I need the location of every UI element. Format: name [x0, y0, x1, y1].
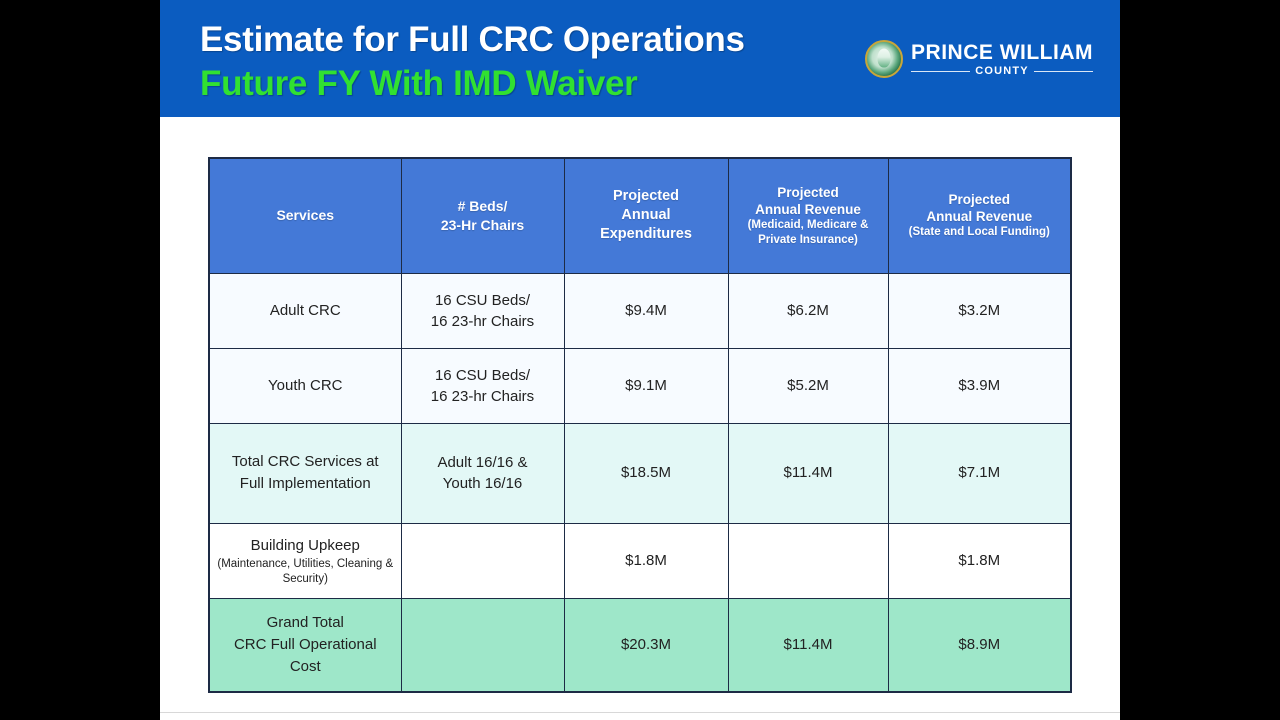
cell-service: Grand Total CRC Full Operational Cost	[209, 598, 401, 692]
table-row: Youth CRC 16 CSU Beds/ 16 23-hr Chairs $…	[209, 348, 1071, 423]
cell-service-line3: Cost	[290, 658, 321, 675]
logo-name: PRINCE WILLIAM	[911, 41, 1093, 64]
table-row: Building Upkeep (Maintenance, Utilities,…	[209, 523, 1071, 598]
column-header-rev-sl-line2: Annual Revenue	[926, 209, 1032, 224]
cell-expenditures: $9.4M	[564, 273, 728, 348]
column-header-beds-line2: 23-Hr Chairs	[441, 217, 524, 233]
cell-revenue-insurance: $5.2M	[728, 348, 888, 423]
cell-service: Building Upkeep (Maintenance, Utilities,…	[209, 523, 401, 598]
cell-service-line1: Grand Total	[267, 614, 344, 631]
cell-service-note: (Maintenance, Utilities, Cleaning & Secu…	[216, 557, 395, 587]
cell-beds-chairs	[401, 523, 564, 598]
slide-bottom-divider	[160, 712, 1120, 713]
cell-service-line2: Full Implementation	[240, 475, 371, 492]
logo-county-label: COUNTY	[975, 65, 1029, 77]
slide-title-secondary: Future FY With IMD Waiver	[200, 62, 880, 106]
cell-beds-chairs: 16 CSU Beds/ 16 23-hr Chairs	[401, 348, 564, 423]
cell-revenue-state-local: $7.1M	[888, 423, 1071, 523]
column-header-services: Services	[209, 158, 401, 273]
prince-william-county-logo: PRINCE WILLIAM COUNTY	[865, 40, 1093, 78]
column-header-revenue-state-local: Projected Annual Revenue (State and Loca…	[888, 158, 1071, 273]
table-row: Adult CRC 16 CSU Beds/ 16 23-hr Chairs $…	[209, 273, 1071, 348]
cell-revenue-insurance	[728, 523, 888, 598]
cell-beds-chairs: 16 CSU Beds/ 16 23-hr Chairs	[401, 273, 564, 348]
cell-service: Total CRC Services at Full Implementatio…	[209, 423, 401, 523]
cell-revenue-state-local: $1.8M	[888, 523, 1071, 598]
cell-beds-line1: 16 CSU Beds/	[435, 292, 530, 309]
cell-service-line1: Total CRC Services at	[232, 453, 379, 470]
slide-title-primary: Estimate for Full CRC Operations	[200, 18, 880, 62]
column-header-exp-line2: Annual	[621, 207, 670, 223]
cell-expenditures: $18.5M	[564, 423, 728, 523]
cell-revenue-insurance: $11.4M	[728, 423, 888, 523]
column-header-rev-ins-line1: Projected	[777, 185, 839, 200]
cell-beds-line2: 16 23-hr Chairs	[431, 313, 534, 330]
cell-beds-line2: 16 23-hr Chairs	[431, 388, 534, 405]
crc-cost-table-container: Services # Beds/ 23-Hr Chairs Projected …	[208, 157, 1070, 693]
cell-beds-line1: Adult 16/16 &	[437, 454, 527, 471]
screen: Estimate for Full CRC Operations Future …	[0, 0, 1280, 720]
cell-beds-line2: Youth 16/16	[443, 475, 523, 492]
cell-service: Adult CRC	[209, 273, 401, 348]
column-header-beds-line1: # Beds/	[458, 198, 508, 214]
column-header-rev-sl-line1: Projected	[948, 192, 1010, 207]
cell-revenue-insurance: $11.4M	[728, 598, 888, 692]
cell-revenue-state-local: $3.2M	[888, 273, 1071, 348]
cell-beds-line1: 16 CSU Beds/	[435, 367, 530, 384]
table-body: Adult CRC 16 CSU Beds/ 16 23-hr Chairs $…	[209, 273, 1071, 692]
column-header-rev-sl-sub: (State and Local Funding)	[895, 225, 1065, 240]
logo-county-row: COUNTY	[911, 65, 1093, 77]
column-header-revenue-insurance: Projected Annual Revenue (Medicaid, Medi…	[728, 158, 888, 273]
table-row: Grand Total CRC Full Operational Cost $2…	[209, 598, 1071, 692]
cell-service-line1: Building Upkeep	[251, 537, 360, 554]
column-header-rev-ins-sub: (Medicaid, Medicare & Private Insurance)	[735, 218, 882, 248]
column-header-exp-line1: Projected	[613, 188, 679, 204]
slide-canvas: Estimate for Full CRC Operations Future …	[160, 0, 1120, 720]
cell-expenditures: $1.8M	[564, 523, 728, 598]
logo-rule-left	[911, 71, 970, 72]
cell-expenditures: $9.1M	[564, 348, 728, 423]
cell-beds-chairs: Adult 16/16 & Youth 16/16	[401, 423, 564, 523]
column-header-beds-chairs: # Beds/ 23-Hr Chairs	[401, 158, 564, 273]
cell-service-line2: CRC Full Operational	[234, 636, 377, 653]
column-header-exp-line3: Expenditures	[600, 226, 692, 242]
cell-beds-chairs	[401, 598, 564, 692]
logo-rule-right	[1034, 71, 1093, 72]
cell-revenue-state-local: $3.9M	[888, 348, 1071, 423]
cell-revenue-insurance: $6.2M	[728, 273, 888, 348]
slide-header-banner: Estimate for Full CRC Operations Future …	[160, 0, 1120, 117]
table-head: Services # Beds/ 23-Hr Chairs Projected …	[209, 158, 1071, 273]
cell-expenditures: $20.3M	[564, 598, 728, 692]
logo-text-group: PRINCE WILLIAM COUNTY	[911, 41, 1093, 77]
crc-cost-table: Services # Beds/ 23-Hr Chairs Projected …	[208, 157, 1072, 693]
banner-title-group: Estimate for Full CRC Operations Future …	[200, 18, 880, 106]
county-seal-icon	[865, 40, 903, 78]
cell-revenue-state-local: $8.9M	[888, 598, 1071, 692]
table-header-row: Services # Beds/ 23-Hr Chairs Projected …	[209, 158, 1071, 273]
cell-service: Youth CRC	[209, 348, 401, 423]
table-row: Total CRC Services at Full Implementatio…	[209, 423, 1071, 523]
column-header-expenditures: Projected Annual Expenditures	[564, 158, 728, 273]
column-header-rev-ins-line2: Annual Revenue	[755, 202, 861, 217]
